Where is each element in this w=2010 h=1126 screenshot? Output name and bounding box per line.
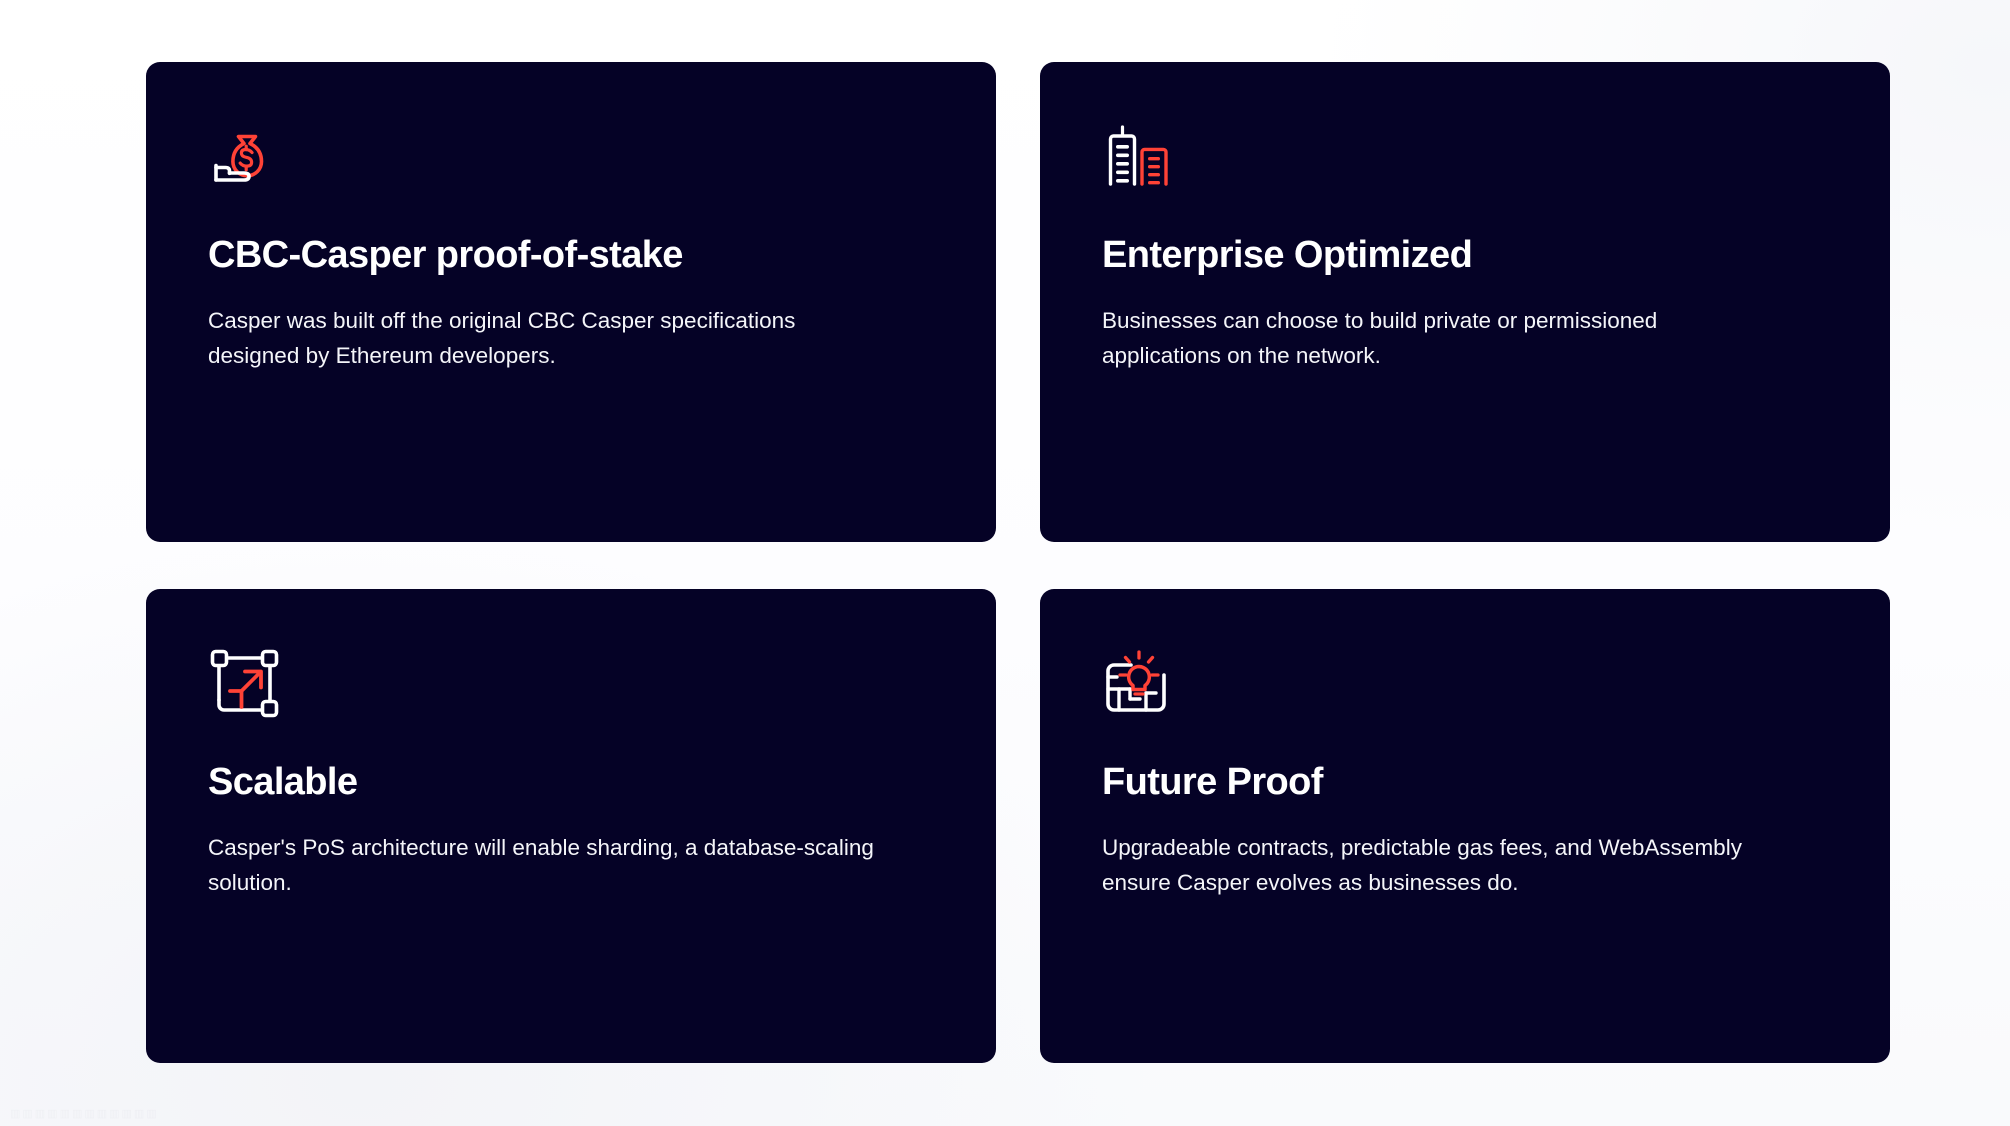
page-watermark: ▥▥▥▥▥▥▥▥▥▥▥▥ xyxy=(10,1107,159,1120)
lightbulb-circuit-icon xyxy=(1102,647,1176,721)
feature-description: Casper's PoS architecture will enable sh… xyxy=(208,830,888,901)
feature-card-cbc-casper[interactable]: CBC-Casper proof-of-stake Casper was bui… xyxy=(146,62,996,542)
feature-description: Businesses can choose to build private o… xyxy=(1102,303,1782,374)
feature-card-future-proof[interactable]: Future Proof Upgradeable contracts, pred… xyxy=(1040,589,1890,1063)
money-bag-icon xyxy=(208,120,282,194)
feature-title: Scalable xyxy=(208,761,934,804)
feature-description: Casper was built off the original CBC Ca… xyxy=(208,303,888,374)
feature-card-enterprise-optimized[interactable]: Enterprise Optimized Businesses can choo… xyxy=(1040,62,1890,542)
feature-title: CBC-Casper proof-of-stake xyxy=(208,234,934,277)
feature-card-scalable[interactable]: Scalable Casper's PoS architecture will … xyxy=(146,589,996,1063)
feature-card-grid: CBC-Casper proof-of-stake Casper was bui… xyxy=(146,62,1870,1063)
feature-title: Future Proof xyxy=(1102,761,1828,804)
feature-description: Upgradeable contracts, predictable gas f… xyxy=(1102,830,1782,901)
feature-title: Enterprise Optimized xyxy=(1102,234,1828,277)
scale-arrow-icon xyxy=(208,647,282,721)
office-buildings-icon xyxy=(1102,120,1176,194)
